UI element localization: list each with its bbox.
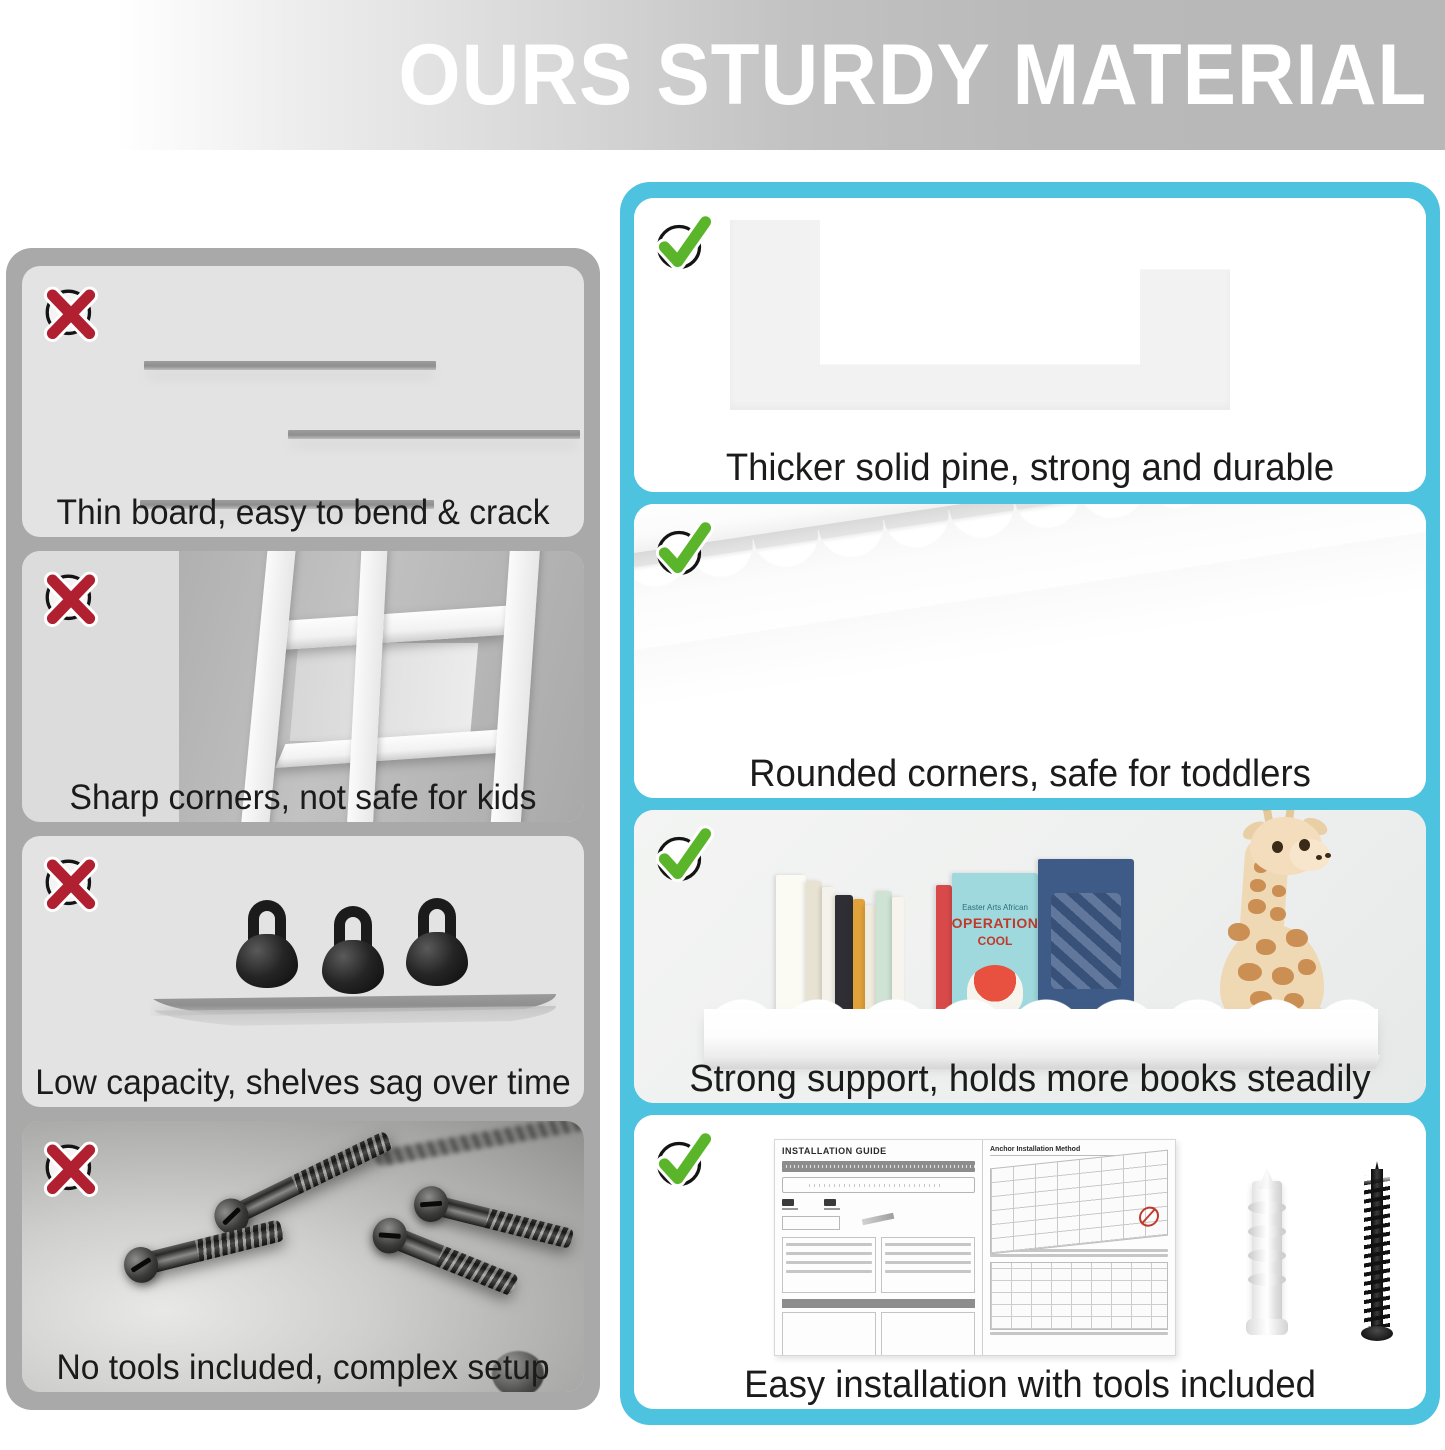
- pro-caption: Easy installation with tools included: [650, 1364, 1410, 1407]
- page-title: OURS STURDY MATERIAL: [398, 32, 1427, 118]
- con-card-thin-board: Thin board, easy to bend & crack: [22, 266, 584, 537]
- pro-card-rounded-corners: Rounded corners, safe for toddlers: [634, 504, 1426, 798]
- con-caption: Low capacity, shelves sag over time: [33, 1063, 573, 1103]
- giraffe-spot: [1228, 923, 1250, 941]
- manual-left-title: INSTALLATION GUIDE: [782, 1146, 975, 1156]
- header-banner: OURS STURDY MATERIAL: [0, 0, 1445, 150]
- cons-panel: Thin board, easy to bend & crack Sharp c…: [6, 248, 600, 1410]
- book-cover-title-2: COOL: [978, 934, 1013, 948]
- check-mark-icon: [650, 1127, 716, 1193]
- kettlebell: [406, 898, 468, 986]
- con-caption: No tools included, complex setup: [33, 1348, 573, 1388]
- plank-top: [144, 361, 436, 370]
- pro-caption: Thicker solid pine, strong and durable: [650, 447, 1410, 490]
- pro-caption: Strong support, holds more books steadil…: [650, 1058, 1410, 1101]
- cross-mark-icon: [38, 278, 104, 344]
- con-card-sharp-corners: Sharp corners, not safe for kids: [22, 551, 584, 822]
- check-mark-icon: [650, 822, 716, 888]
- screw: [223, 1131, 394, 1228]
- pro-card-thicker-pine: Thicker solid pine, strong and durable: [634, 198, 1426, 492]
- giraffe-spot: [1256, 939, 1276, 955]
- check-mark-icon: [650, 210, 716, 276]
- book-cover-subtitle: Easter Arts African: [962, 903, 1028, 912]
- giraffe-spot: [1270, 907, 1286, 921]
- screw: [424, 1193, 574, 1249]
- kettlebell: [236, 900, 298, 988]
- cross-mark-icon: [38, 1133, 104, 1199]
- plank-middle: [288, 430, 580, 439]
- con-caption: Thin board, easy to bend & crack: [33, 493, 573, 533]
- screw: [134, 1219, 285, 1277]
- book-cover-title: OPERATION: [952, 915, 1039, 931]
- giraffe-spot: [1238, 963, 1262, 981]
- pro-card-strong-support: Easter Arts AfricanOPERATIONCOOL: [634, 810, 1426, 1104]
- black-wood-screw: [1360, 1161, 1394, 1341]
- cross-mark-icon: [38, 848, 104, 914]
- installation-manual-sheet: INSTALLATION GUIDE: [774, 1139, 1176, 1356]
- plastic-wall-anchor: [1246, 1167, 1288, 1335]
- kettlebell: [322, 906, 384, 994]
- giraffe-spot: [1248, 899, 1266, 914]
- con-card-no-tools: No tools included, complex setup: [22, 1121, 584, 1392]
- giraffe-spot: [1286, 929, 1308, 947]
- con-caption: Sharp corners, not safe for kids: [33, 778, 573, 818]
- pro-card-easy-installation: INSTALLATION GUIDE: [634, 1115, 1426, 1409]
- giraffe-spot: [1298, 959, 1316, 975]
- screw: [381, 1224, 519, 1297]
- con-card-low-capacity: Low capacity, shelves sag over time: [22, 836, 584, 1107]
- pros-panel: Thicker solid pine, strong and durable R…: [620, 182, 1440, 1425]
- check-mark-icon: [650, 516, 716, 582]
- pro-caption: Rounded corners, safe for toddlers: [650, 753, 1410, 796]
- giraffe-spot: [1272, 967, 1294, 985]
- cross-mark-icon: [38, 563, 104, 629]
